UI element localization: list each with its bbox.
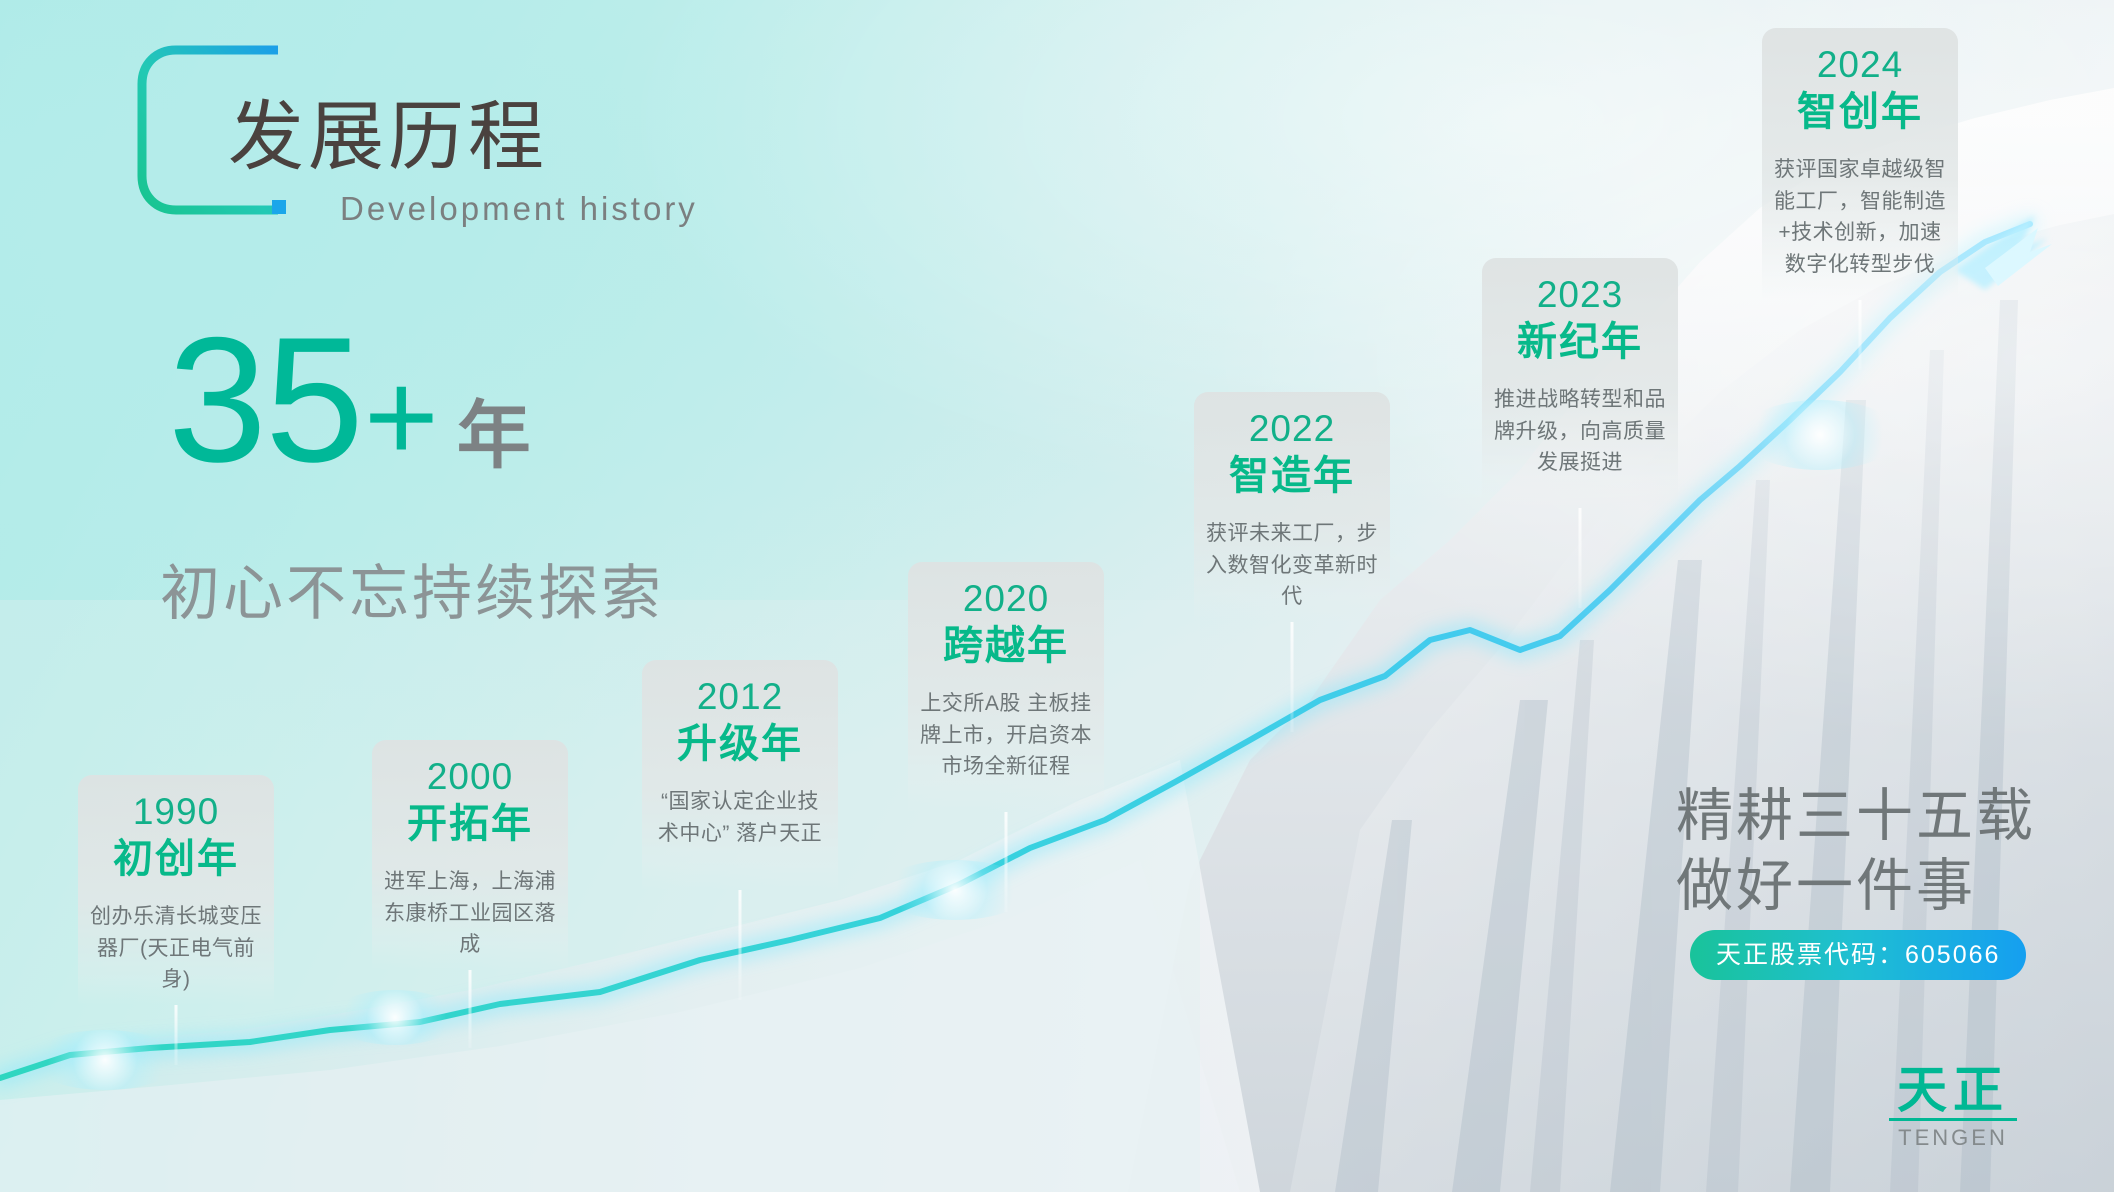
milestone-card-2024[interactable]: 2024 智创年 获评国家卓越级智能工厂，智能制造+技术创新，加速数字化转型步伐 <box>1762 28 1958 300</box>
milestone-tag: 新纪年 <box>1492 316 1668 368</box>
stat-slogan: 初心不忘持续探索 <box>160 545 664 632</box>
milestone-tag: 开拓年 <box>382 798 558 850</box>
page-subtitle: Development history <box>340 190 698 228</box>
milestone-stem <box>1859 300 1862 370</box>
milestone-year: 2000 <box>382 754 558 800</box>
milestone-year: 2020 <box>918 576 1094 622</box>
brand-tagline-line2: 做好一件事 <box>1676 852 2036 922</box>
milestone-desc: 进军上海，上海浦东康桥工业园区落成 <box>382 866 558 961</box>
milestone-stem <box>1579 508 1582 608</box>
milestone-year: 2022 <box>1204 406 1380 452</box>
milestone-tag: 升级年 <box>652 718 828 770</box>
tengen-logo-rule <box>1889 1118 2017 1121</box>
page-title: 发展历程 <box>228 100 548 176</box>
milestone-card-2022[interactable]: 2022 智造年 获评未来工厂，步入数智化变革新时代 <box>1194 392 1390 622</box>
milestone-tag: 智造年 <box>1204 450 1380 502</box>
milestone-year: 2023 <box>1492 272 1668 318</box>
tengen-logo: 天正 TENGEN <box>1888 1065 2018 1151</box>
milestone-desc: 获评未来工厂，步入数智化变革新时代 <box>1204 518 1380 613</box>
milestone-desc: 上交所A股 主板挂牌上市，开启资本市场全新征程 <box>918 688 1094 783</box>
milestone-stem <box>739 890 742 1000</box>
milestone-tag: 跨越年 <box>918 620 1094 672</box>
milestone-card-2023[interactable]: 2023 新纪年 推进战略转型和品牌升级，向高质量发展挺进 <box>1482 258 1678 508</box>
milestone-tag: 初创年 <box>88 833 264 885</box>
milestone-card-2000[interactable]: 2000 开拓年 进军上海，上海浦东康桥工业园区落成 <box>372 740 568 970</box>
milestone-stem <box>1291 622 1294 732</box>
milestone-year: 2024 <box>1772 42 1948 88</box>
milestone-stem <box>1005 812 1008 912</box>
milestone-tag: 智创年 <box>1772 86 1948 138</box>
milestone-stem <box>469 970 472 1048</box>
brand-tagline: 精耕三十五载 做好一件事 <box>1676 782 2036 921</box>
milestone-card-1990[interactable]: 1990 初创年 创办乐清长城变压器厂(天正电气前身) <box>78 775 274 1005</box>
stock-ticker-badge: 天正股票代码：605066 <box>1690 930 2026 980</box>
stat-unit: 年 <box>457 394 531 477</box>
milestone-desc: 获评国家卓越级智能工厂，智能制造+技术创新，加速数字化转型步伐 <box>1772 154 1948 280</box>
stat-number: 35 <box>168 300 362 499</box>
poster-canvas: 发展历程 Development history 35+年 初心不忘持续探索 1… <box>0 0 2114 1192</box>
milestone-desc: 推进战略转型和品牌升级，向高质量发展挺进 <box>1492 384 1668 479</box>
milestone-year: 2012 <box>652 674 828 720</box>
brand-tagline-line1: 精耕三十五载 <box>1676 782 2036 852</box>
milestone-year: 1990 <box>88 789 264 835</box>
milestone-card-2012[interactable]: 2012 升级年 “国家认定企业技术中心” 落户天正 <box>642 660 838 890</box>
years-stat: 35+年 <box>168 320 531 491</box>
tengen-logo-cn: 天正 <box>1888 1065 2018 1115</box>
milestone-card-2020[interactable]: 2020 跨越年 上交所A股 主板挂牌上市，开启资本市场全新征程 <box>908 562 1104 812</box>
milestone-desc: 创办乐清长城变压器厂(天正电气前身) <box>88 901 264 996</box>
stat-plus-sign: + <box>364 346 439 489</box>
tengen-logo-en: TENGEN <box>1888 1125 2018 1151</box>
milestone-desc: “国家认定企业技术中心” 落户天正 <box>652 786 828 849</box>
milestone-stem <box>175 1005 178 1065</box>
